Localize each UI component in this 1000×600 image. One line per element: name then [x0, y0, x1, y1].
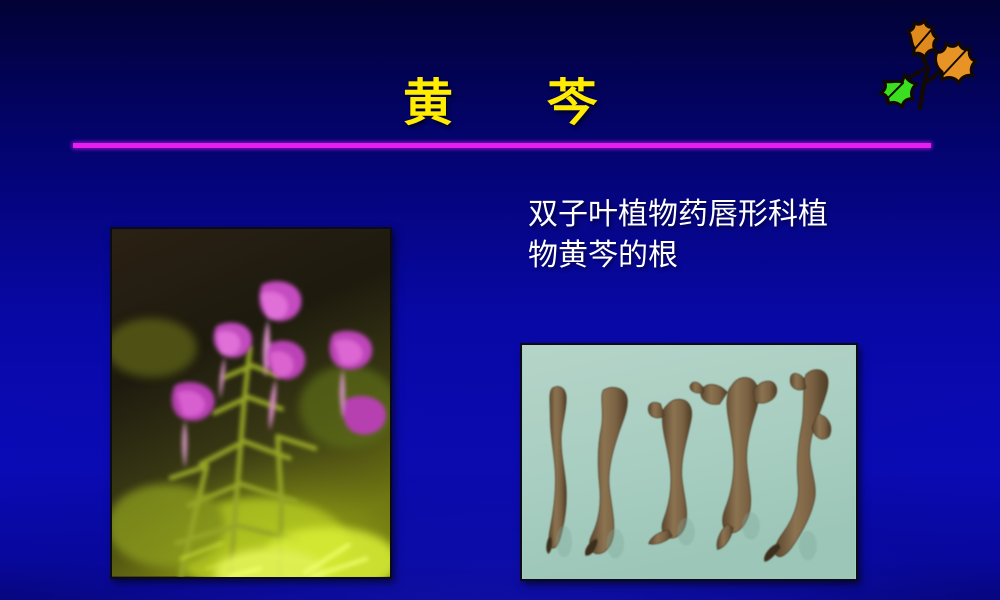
page-title: 黄 芩 [0, 74, 1000, 132]
caption-text: 双子叶植物药唇形科植 物黄芩的根 [528, 194, 900, 276]
plant-photo [110, 227, 392, 579]
caption-line-2: 物黄芩的根 [528, 235, 900, 276]
title-divider-rule [73, 143, 931, 148]
slide-canvas: 黄 芩 双子叶植物药唇形科植 物黄芩的根 [0, 0, 1000, 600]
root-specimen-photo [520, 343, 858, 581]
caption-line-1: 双子叶植物药唇形科植 [528, 194, 900, 235]
